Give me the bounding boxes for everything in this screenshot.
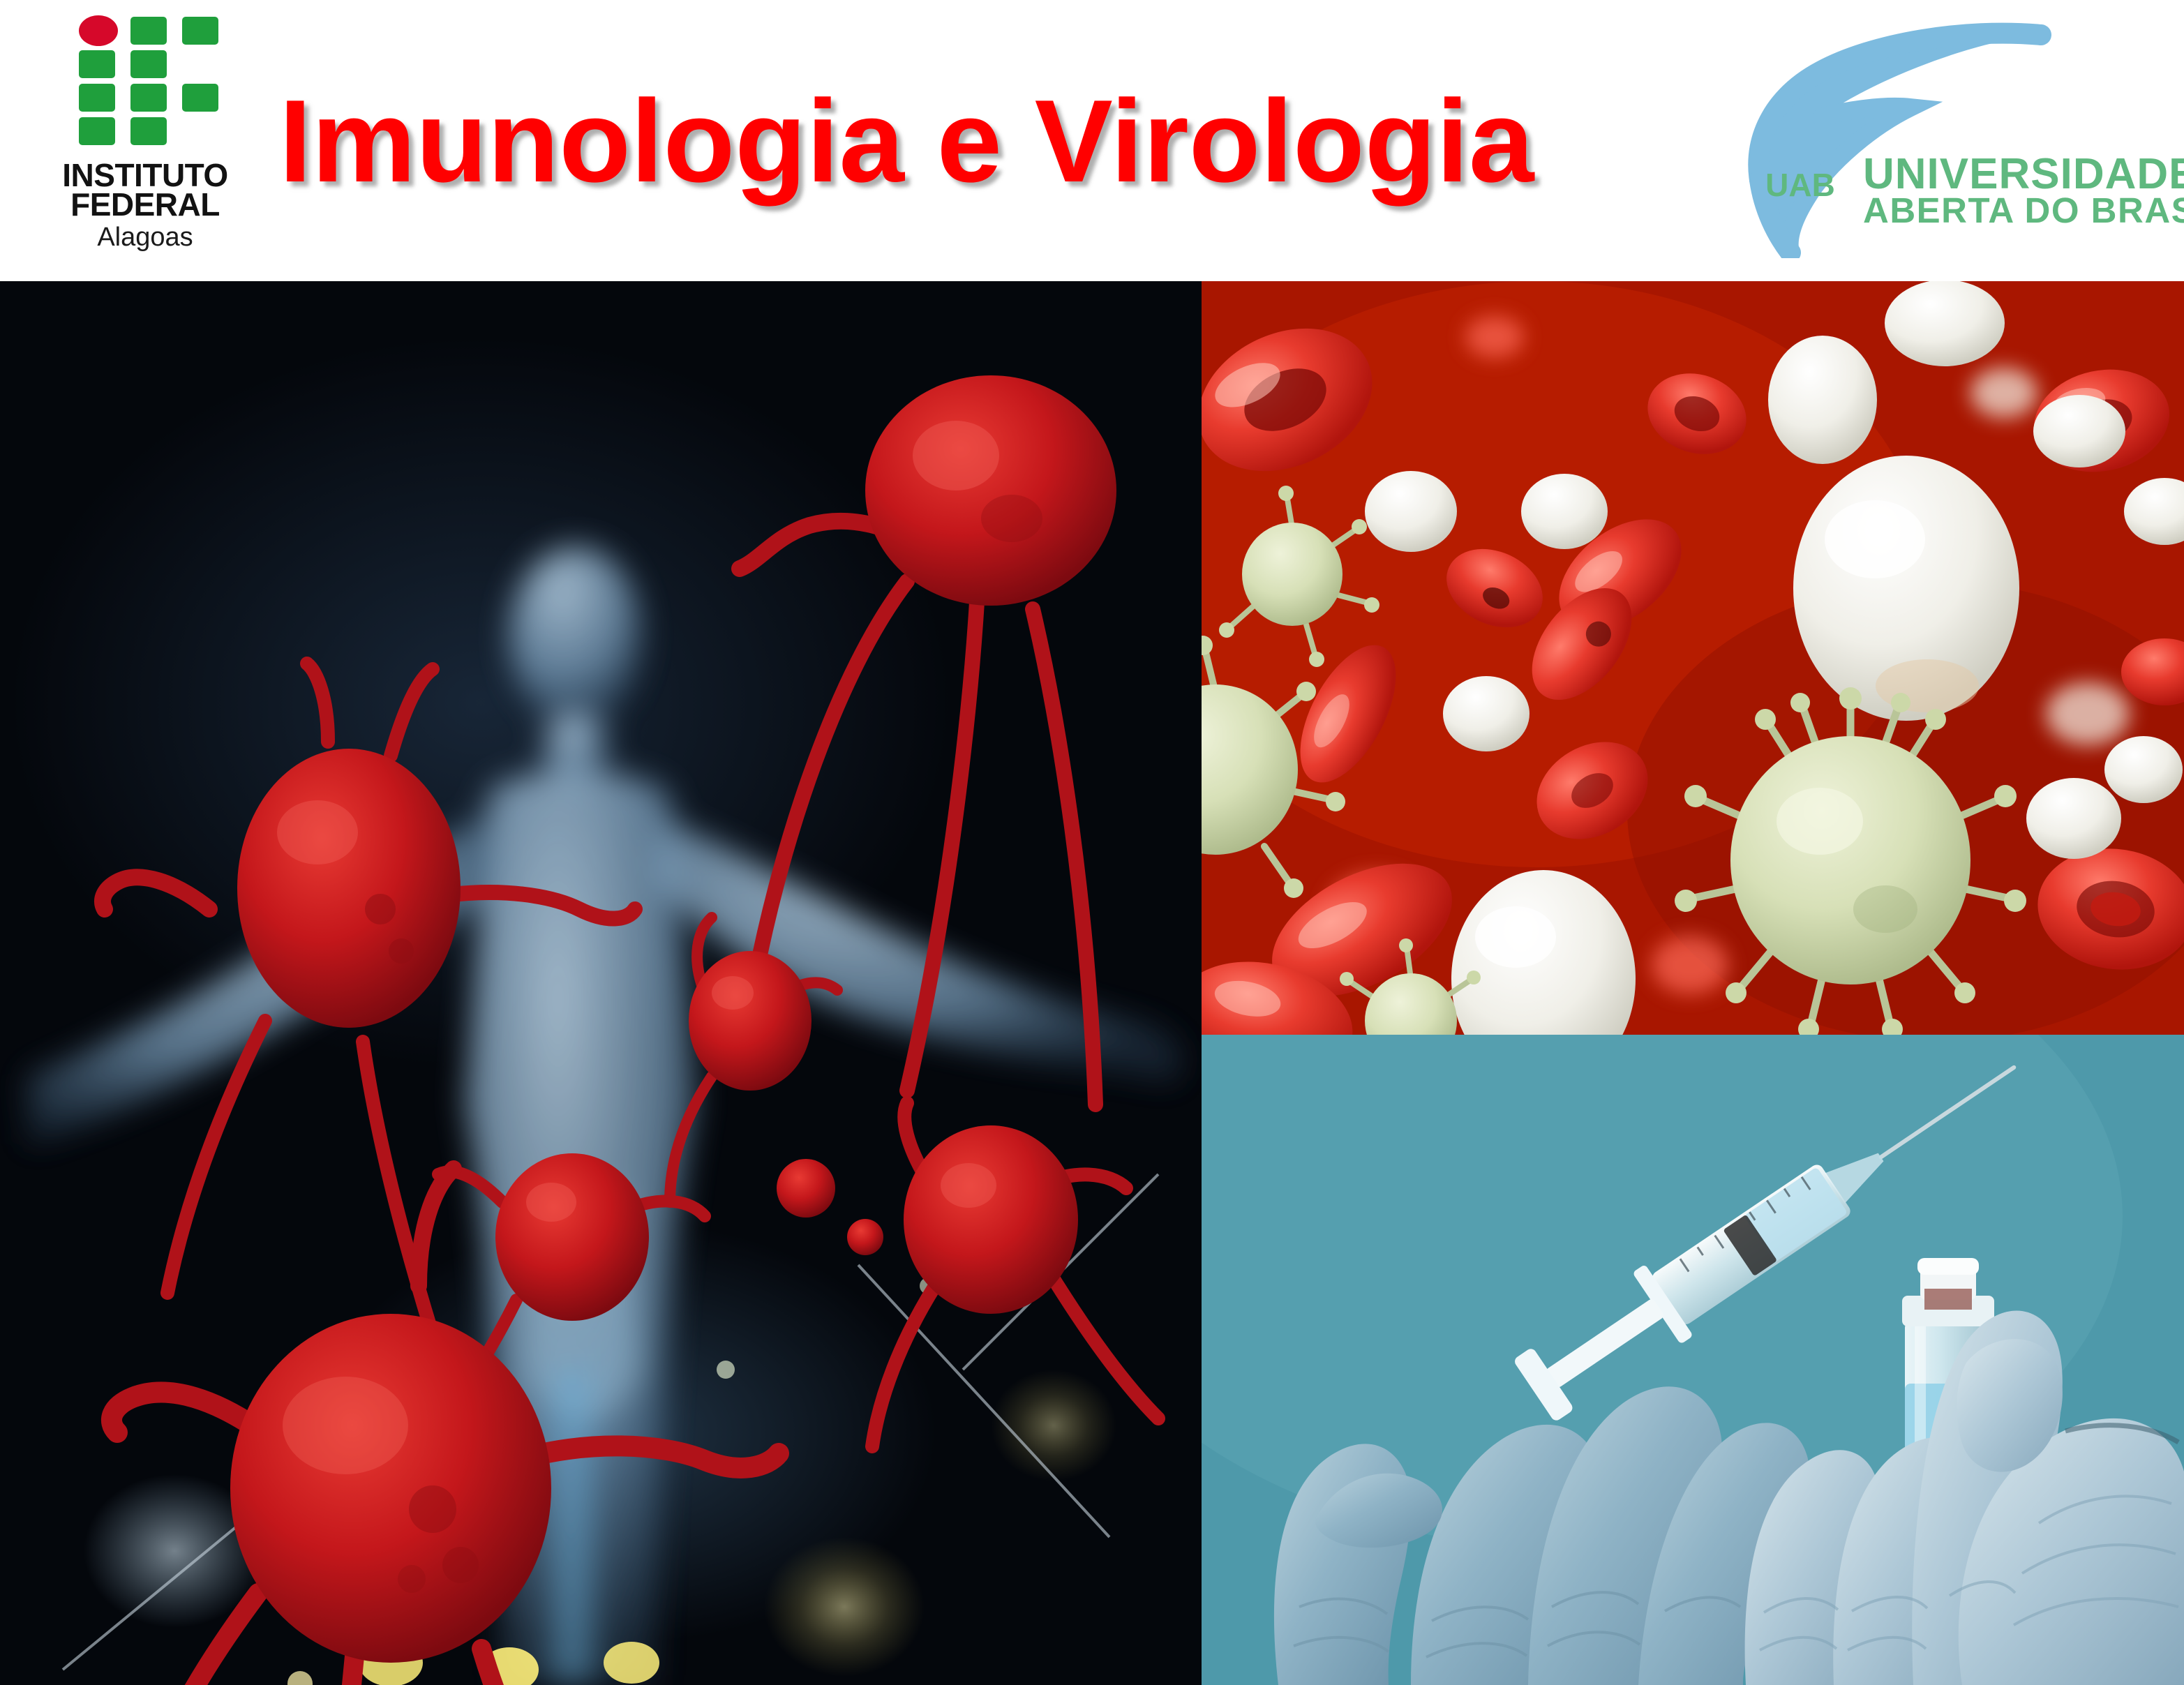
slide-header: INSTITUTO FEDERAL Alagoas Imunologia e V… [0, 0, 2184, 281]
if-logo-mark-icon [79, 15, 218, 152]
if-logo-square-icon [130, 84, 167, 112]
if-logo-square-icon [130, 50, 167, 78]
immune-attack-illustration [0, 281, 1202, 1685]
if-logo-square-icon [130, 17, 167, 45]
if-logo-line2: FEDERAL [13, 186, 278, 223]
if-logo-square-icon [79, 50, 115, 78]
if-logo-line3: Alagoas [13, 223, 278, 253]
page-title: Imunologia e Virologia [279, 82, 1465, 200]
if-logo-square-icon [182, 17, 218, 45]
instituto-federal-alagoas-logo: INSTITUTO FEDERAL Alagoas [13, 10, 278, 274]
if-logo-square-icon [79, 84, 115, 112]
uab-line2: ABERTA DO BRASIL [1863, 190, 2184, 231]
blood-cells-artwork [1202, 281, 2184, 1035]
slide-root: INSTITUTO FEDERAL Alagoas Imunologia e V… [0, 0, 2184, 1685]
uab-abbreviation: UAB [1751, 166, 1849, 204]
if-logo-square-icon [130, 117, 167, 145]
if-logo-square-icon [182, 84, 218, 112]
immune-attack-artwork [0, 281, 1202, 1685]
if-logo-red-dot-icon [79, 15, 118, 46]
if-logo-square-icon [79, 117, 115, 145]
universidade-aberta-do-brasil-logo: UAB UNIVERSIDADE ABERTA DO BRASIL [1723, 13, 2170, 271]
vaccination-artwork [1202, 1035, 2184, 1685]
blood-cells-virus-illustration [1202, 281, 2184, 1035]
vaccination-photo [1202, 1035, 2184, 1685]
